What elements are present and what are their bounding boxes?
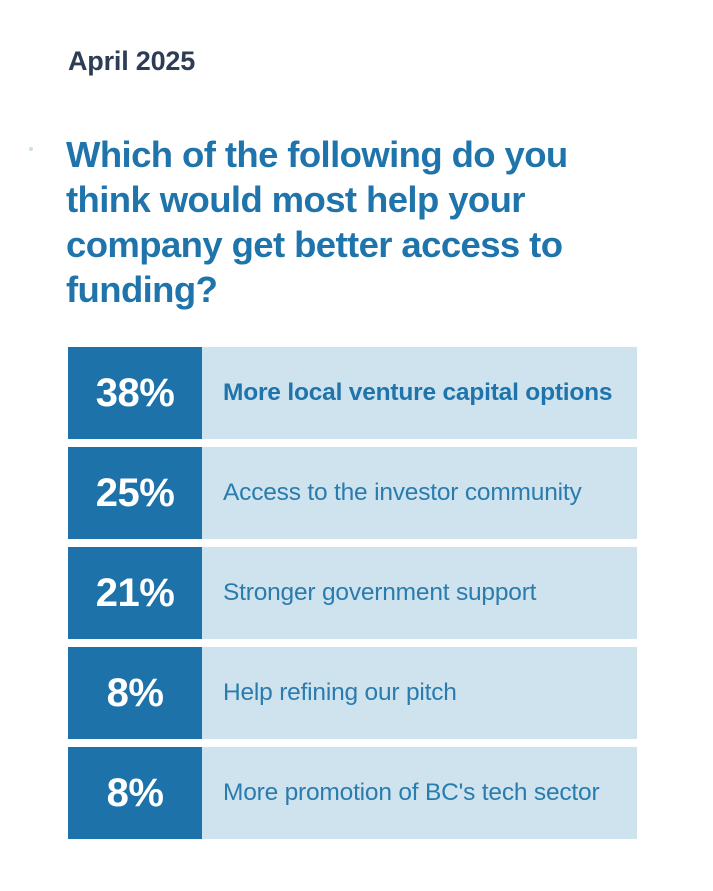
percent-block: 21%: [68, 547, 202, 639]
result-row: 21% Stronger government support: [68, 547, 637, 639]
percent-value: 25%: [96, 473, 175, 513]
answer-label: More local venture capital options: [223, 378, 612, 408]
percent-value: 21%: [96, 573, 175, 613]
date-label: April 2025: [68, 46, 195, 77]
result-row: 8% Help refining our pitch: [68, 647, 637, 739]
answer-label: More promotion of BC's tech sector: [223, 778, 599, 808]
page-title: Which of the following do you think woul…: [66, 132, 646, 312]
label-block: More local venture capital options: [202, 347, 637, 439]
result-row: 8% More promotion of BC's tech sector: [68, 747, 637, 839]
percent-value: 38%: [96, 373, 175, 413]
percent-value: 8%: [107, 773, 164, 813]
label-block: Help refining our pitch: [202, 647, 637, 739]
answer-label: Stronger government support: [223, 578, 536, 608]
answer-label: Access to the investor community: [223, 478, 582, 508]
percent-block: 8%: [68, 647, 202, 739]
label-block: More promotion of BC's tech sector: [202, 747, 637, 839]
results-list: 38% More local venture capital options 2…: [68, 347, 637, 839]
percent-block: 25%: [68, 447, 202, 539]
label-block: Stronger government support: [202, 547, 637, 639]
survey-infographic: April 2025 Which of the following do you…: [0, 0, 713, 891]
decorative-dot: [29, 147, 33, 151]
label-block: Access to the investor community: [202, 447, 637, 539]
percent-block: 8%: [68, 747, 202, 839]
answer-label: Help refining our pitch: [223, 678, 457, 708]
result-row: 38% More local venture capital options: [68, 347, 637, 439]
percent-value: 8%: [107, 673, 164, 713]
result-row: 25% Access to the investor community: [68, 447, 637, 539]
percent-block: 38%: [68, 347, 202, 439]
